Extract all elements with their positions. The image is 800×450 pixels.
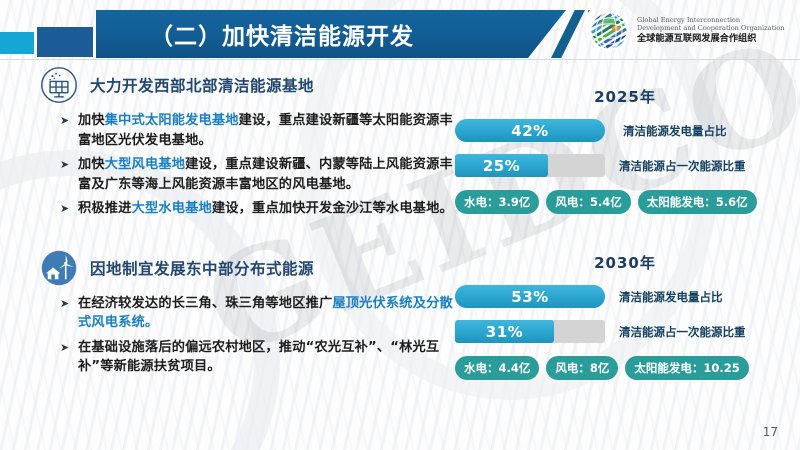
slide-canvas: GEIDCO （二）加快清洁能源开发 xyxy=(0,0,800,450)
bar-fill: 31% xyxy=(455,320,554,343)
chart-2025-bar-row-2: 25% 清洁能源占一次能源比重 xyxy=(455,154,795,177)
bullet-item: ➤ 在经济较发达的长三角、珠三角等地区推广屋顶光伏系统及分散式风电系统。 xyxy=(40,294,460,333)
bullet-span-highlight: 集中式太阳能发电基地 xyxy=(105,113,239,128)
bar-track: 53% xyxy=(455,285,605,308)
left-content-column: 大力开发西部北部清洁能源基地 ➤ 加快集中式太阳能发电基地建设，重点建设新疆等太… xyxy=(40,66,460,377)
bullet-span: 在经济较发达的长三角、珠三角等地区推广 xyxy=(78,296,332,311)
bullet-span: 加快 xyxy=(78,113,105,128)
chart-2025: 2025年 42% 清洁能源发电量占比 25% 清洁能源占一次能源比重 水电：3… xyxy=(455,86,795,214)
bullet-arrow-icon: ➤ xyxy=(60,199,71,219)
header-accent-square-cyan xyxy=(0,32,34,54)
bullet-text: 加快集中式太阳能发电基地建设，重点建设新疆等太阳能资源丰富地区光伏发电基地。 xyxy=(78,111,460,150)
bar-fill: 42% xyxy=(455,119,605,142)
bar-value-label: 42% xyxy=(511,122,548,140)
bullet-item: ➤ 积极推进大型水电基地建设，重点加快开发金沙江等水电基地。 xyxy=(40,199,460,219)
bar-fill: 53% xyxy=(455,285,605,308)
header-divider xyxy=(0,59,800,60)
page-title: （二）加快清洁能源开发 xyxy=(150,17,414,51)
capacity-pill-solar: 太阳能发电：10.25 xyxy=(625,356,748,380)
section-2-title: 因地制宜发展东中部分布式能源 xyxy=(90,257,314,279)
organization-logo: Global Energy Interconnection Developmen… xyxy=(588,8,793,54)
section-1-header: 大力开发西部北部清洁能源基地 xyxy=(40,66,460,104)
bullet-item: ➤ 在基础设施落后的偏远农村地区，推动“农光互补”、“林光互补”等新能源扶贫项目… xyxy=(40,338,460,377)
bar-value-label: 53% xyxy=(511,288,548,306)
bullet-span: 建设，重点加快开发金沙江等水电基地。 xyxy=(212,201,453,216)
bullet-text: 积极推进大型水电基地建设，重点加快开发金沙江等水电基地。 xyxy=(78,199,453,219)
chart-2030-pills: 水电：4.4亿 风电：8亿 太阳能发电：10.25 xyxy=(455,356,795,380)
capacity-pill-wind: 风电：5.4亿 xyxy=(546,190,630,214)
globe-logo-icon xyxy=(588,10,630,52)
section-1-title: 大力开发西部北部清洁能源基地 xyxy=(90,74,314,96)
capacity-pill-hydro: 水电：3.9亿 xyxy=(455,190,539,214)
logo-en-line-2: Development and Cooperation Organization xyxy=(637,25,784,32)
bar-track: 31% xyxy=(455,320,605,343)
bullet-item: ➤ 加快集中式太阳能发电基地建设，重点建设新疆等太阳能资源丰富地区光伏发电基地。 xyxy=(40,111,460,150)
section-distributed-energy: 因地制宜发展东中部分布式能源 ➤ 在经济较发达的长三角、珠三角等地区推广屋顶光伏… xyxy=(40,249,460,377)
chart-2025-pills: 水电：3.9亿 风电：5.4亿 太阳能发电：5.6亿 xyxy=(455,190,795,214)
chart-2030-bar-row-2: 31% 清洁能源占一次能源比重 xyxy=(455,320,795,343)
bar-fill: 25% xyxy=(455,154,548,177)
bullet-span: 加快 xyxy=(78,157,105,172)
header-accent-square-blue xyxy=(37,27,93,57)
chart-2025-bar-row-1: 42% 清洁能源发电量占比 xyxy=(455,119,795,142)
bullet-span-highlight: 大型水电基地 xyxy=(132,201,212,216)
bullet-span-highlight: 大型风电基地 xyxy=(105,157,185,172)
house-windturbine-icon xyxy=(40,249,78,287)
bullet-arrow-icon: ➤ xyxy=(60,111,71,150)
section-1-bullets: ➤ 加快集中式太阳能发电基地建设，重点建设新疆等太阳能资源丰富地区光伏发电基地。… xyxy=(40,111,460,219)
page-number: 17 xyxy=(763,425,778,439)
bar-value-label: 31% xyxy=(486,323,523,341)
bar-category-label: 清洁能源占一次能源比重 xyxy=(619,324,746,340)
bar-track: 42% xyxy=(455,119,605,142)
chart-2025-title: 2025年 xyxy=(455,86,795,107)
bullet-text: 加快大型风电基地建设，重点建设新疆、内蒙等陆上风能资源丰富及广东等海上风能资源丰… xyxy=(78,155,460,194)
bullet-text: 在经济较发达的长三角、珠三角等地区推广屋顶光伏系统及分散式风电系统。 xyxy=(78,294,460,333)
capacity-pill-solar: 太阳能发电：5.6亿 xyxy=(638,190,757,214)
logo-cn-name: 全球能源互联网发展合作组织 xyxy=(637,34,784,44)
bullet-arrow-icon: ➤ xyxy=(60,294,71,333)
bullet-arrow-icon: ➤ xyxy=(60,338,71,377)
bar-category-label: 清洁能源发电量占比 xyxy=(623,123,727,139)
bar-track: 25% xyxy=(455,154,605,177)
chart-2030-bar-row-1: 53% 清洁能源发电量占比 xyxy=(455,285,795,308)
section-2-header: 因地制宜发展东中部分布式能源 xyxy=(40,249,460,287)
bullet-item: ➤ 加快大型风电基地建设，重点建设新疆、内蒙等陆上风能资源丰富及广东等海上风能资… xyxy=(40,155,460,194)
capacity-pill-wind: 风电：8亿 xyxy=(546,356,618,380)
bar-category-label: 清洁能源发电量占比 xyxy=(619,289,723,305)
bar-value-label: 25% xyxy=(483,157,520,175)
section-west-north-bases: 大力开发西部北部清洁能源基地 ➤ 加快集中式太阳能发电基地建设，重点建设新疆等太… xyxy=(40,66,460,219)
bar-category-label: 清洁能源占一次能源比重 xyxy=(619,158,746,174)
bullet-span: 积极推进 xyxy=(78,201,132,216)
bullet-arrow-icon: ➤ xyxy=(60,155,71,194)
logo-text-block: Global Energy Interconnection Developmen… xyxy=(637,17,784,44)
solar-panel-icon xyxy=(40,66,78,104)
section-2-bullets: ➤ 在经济较发达的长三角、珠三角等地区推广屋顶光伏系统及分散式风电系统。 ➤ 在… xyxy=(40,294,460,377)
chart-2030: 2030年 53% 清洁能源发电量占比 31% 清洁能源占一次能源比重 水电：4… xyxy=(455,252,795,380)
bullet-text: 在基础设施落后的偏远农村地区，推动“农光互补”、“林光互补”等新能源扶贫项目。 xyxy=(78,338,460,377)
chart-2030-title: 2030年 xyxy=(455,252,795,273)
capacity-pill-hydro: 水电：4.4亿 xyxy=(455,356,539,380)
